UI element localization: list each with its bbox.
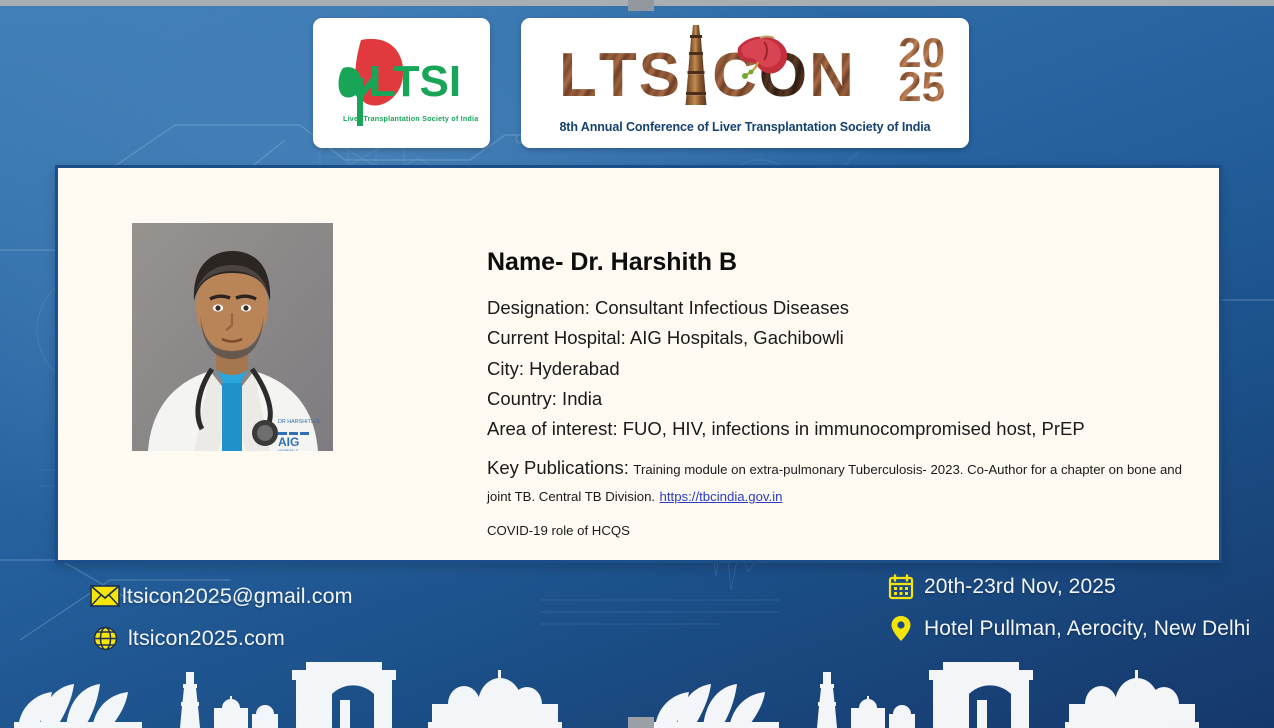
ltsi-logo: LTSI Liver Transplantation Society of In… (313, 18, 490, 148)
avatar: DR HARSHITH B AIG HOSPITALS (132, 223, 333, 451)
ltsi-wordmark: LTSI (369, 60, 461, 104)
contact-dates: 20th-23rd Nov, 2025 (884, 566, 1250, 608)
publications-label: Key Publications: (487, 457, 629, 478)
detail-designation: Designation: Consultant Infectious Disea… (487, 293, 1187, 323)
top-scroll-handle[interactable] (628, 0, 654, 11)
location-pin-icon (884, 615, 918, 643)
ltsicon-logo: L T S (521, 18, 969, 148)
year-bottom: 25 (898, 70, 945, 104)
publications-extra: COVID-19 role of HCQS (487, 520, 1187, 543)
footer-contacts-left: ltsicon2025@gmail.com ltsicon2025.com (88, 575, 353, 659)
detail-hospital: Current Hospital: AIG Hospitals, Gachibo… (487, 323, 1187, 353)
page-title: Name- Dr. Harshith B (487, 248, 1187, 277)
wordmark-letter-n: N (809, 47, 854, 104)
detail-area-of-interest: Area of interest: FUO, HIV, infections i… (487, 414, 1187, 444)
wordmark-letter-s: S (639, 47, 680, 104)
conference-profile-slide: LTSI Liver Transplantation Society of In… (0, 0, 1274, 728)
ltsicon-wordmark: L T S (559, 42, 854, 104)
svg-text:DR HARSHITH B: DR HARSHITH B (278, 419, 320, 425)
logo-row: LTSI Liver Transplantation Society of In… (0, 18, 1274, 150)
svg-text:AIG: AIG (278, 435, 299, 449)
detail-city: City: Hyderabad (487, 354, 1187, 384)
profile-details: Name- Dr. Harshith B Designation: Consul… (487, 248, 1187, 543)
contact-website[interactable]: ltsicon2025.com (88, 617, 353, 659)
wordmark-letter-l: L (559, 47, 597, 104)
email-text: ltsicon2025@gmail.com (122, 584, 353, 609)
publications-link[interactable]: https://tbcindia.gov.in (660, 489, 783, 504)
footer-contacts-right: 20th-23rd Nov, 2025 Hotel Pullman, Aeroc… (884, 566, 1250, 650)
dates-text: 20th-23rd Nov, 2025 (924, 575, 1116, 599)
globe-icon (88, 626, 122, 651)
conference-tagline: 8th Annual Conference of Liver Transplan… (521, 120, 969, 134)
svg-text:HOSPITALS: HOSPITALS (278, 449, 299, 451)
qutub-minar-icon (683, 23, 709, 105)
portrait-photo: DR HARSHITH B AIG HOSPITALS (132, 223, 333, 451)
contact-email[interactable]: ltsicon2025@gmail.com (88, 575, 353, 617)
contact-venue: Hotel Pullman, Aerocity, New Delhi (884, 608, 1250, 650)
bottom-scroll-handle[interactable] (628, 717, 654, 728)
profile-card: DR HARSHITH B AIG HOSPITALS Name- Dr. Ha… (55, 165, 1222, 563)
key-publications: Key Publications: Training module on ext… (487, 452, 1187, 543)
detail-country: Country: India (487, 384, 1187, 414)
calendar-icon (884, 574, 918, 600)
conference-year: 20 25 (898, 36, 945, 105)
website-text: ltsicon2025.com (128, 626, 285, 651)
liver-icon (734, 34, 790, 86)
wordmark-letter-t: T (599, 47, 637, 104)
email-icon (88, 585, 122, 607)
ltsi-subtitle: Liver Transplantation Society of India (343, 114, 473, 123)
venue-text: Hotel Pullman, Aerocity, New Delhi (924, 617, 1250, 641)
